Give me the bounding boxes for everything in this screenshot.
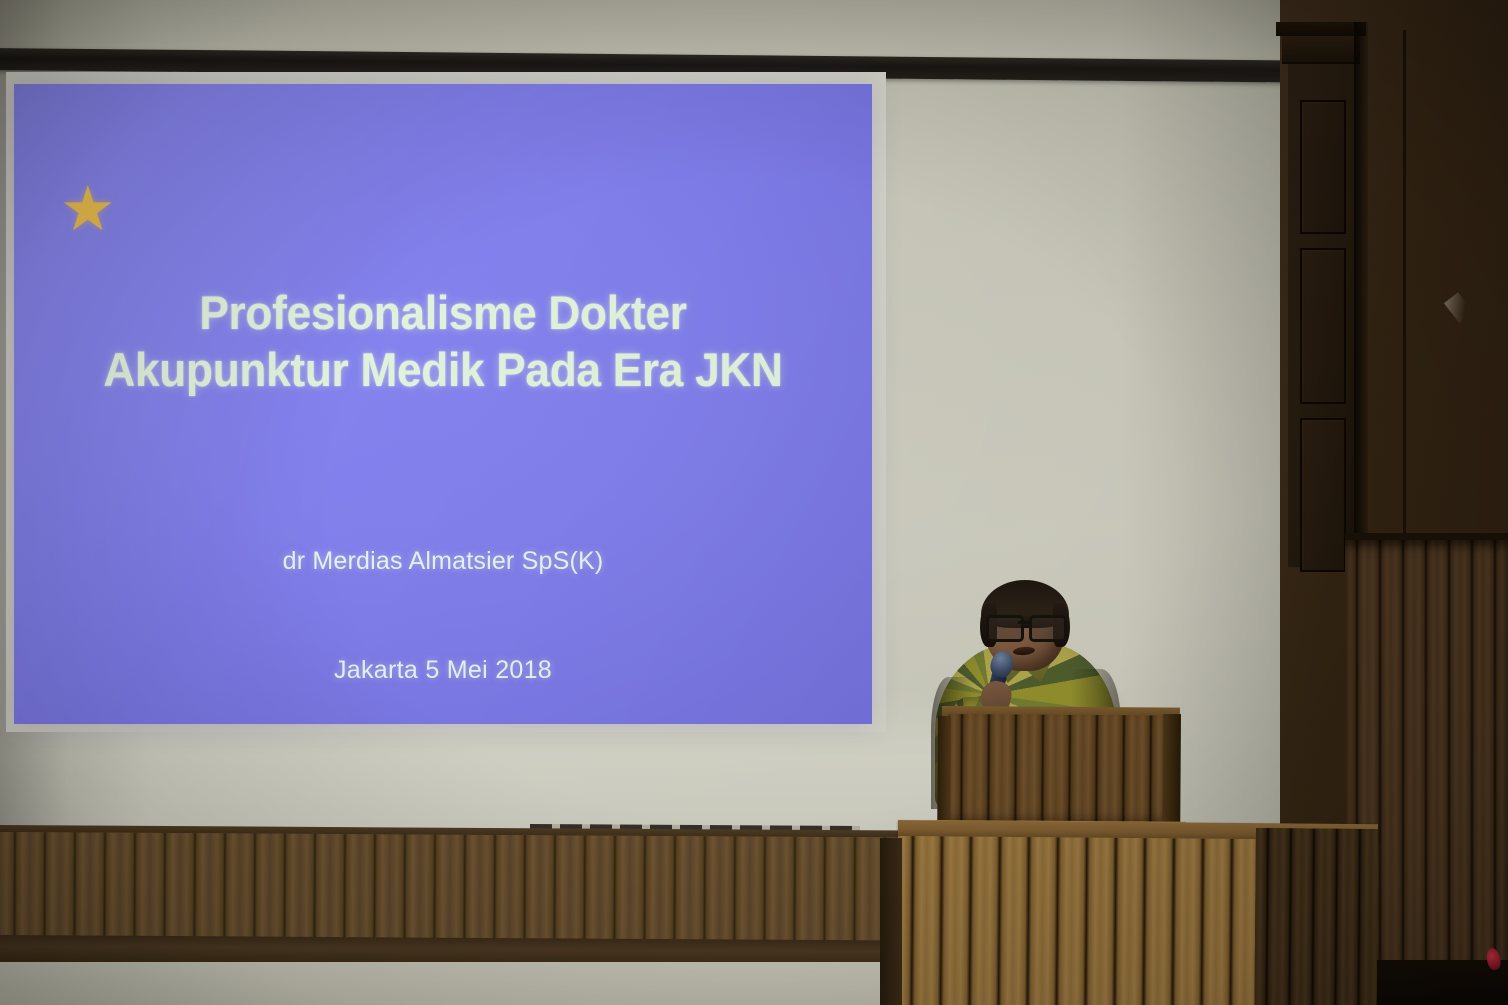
wood-panel-seam — [1403, 30, 1406, 560]
floor — [0, 962, 905, 1005]
pilaster-edge-shadow — [1354, 22, 1368, 567]
eyeglass-lens-left — [986, 615, 1024, 642]
eyeglasses-icon — [986, 615, 1064, 636]
presentation-photo-scene: ★ Profesionalisme Dokter Akupunktur Medi… — [0, 0, 1508, 1005]
slide-title: Profesionalisme Dokter Akupunktur Medik … — [40, 284, 847, 398]
star-icon: ★ — [60, 185, 114, 237]
pilaster-panel-1 — [1300, 100, 1346, 234]
pilaster-cap-upper — [1276, 22, 1366, 36]
pilaster-cap-lower — [1282, 36, 1360, 64]
pilaster-panel-3 — [1300, 418, 1346, 572]
slide-author: dr Merdias Almatsier SpS(K) — [14, 547, 872, 576]
slide-title-line-1: Profesionalisme Dokter — [64, 284, 822, 341]
projected-slide: ★ Profesionalisme Dokter Akupunktur Medi… — [14, 84, 872, 724]
stage-right-dark-section — [1254, 828, 1378, 1005]
pilaster-panel-2 — [1300, 248, 1346, 404]
lectern-side-left — [937, 716, 951, 824]
wooden-lectern — [947, 714, 1173, 826]
eyeglass-bridge — [1018, 621, 1029, 624]
lectern-side-right — [1162, 714, 1181, 824]
slide-date: Jakarta 5 Mei 2018 — [14, 656, 872, 685]
slide-title-line-2: Akupunktur Medik Pada Era JKN — [64, 341, 822, 398]
stage-left-shadow — [880, 838, 902, 1005]
eyeglass-lens-right — [1029, 615, 1067, 642]
